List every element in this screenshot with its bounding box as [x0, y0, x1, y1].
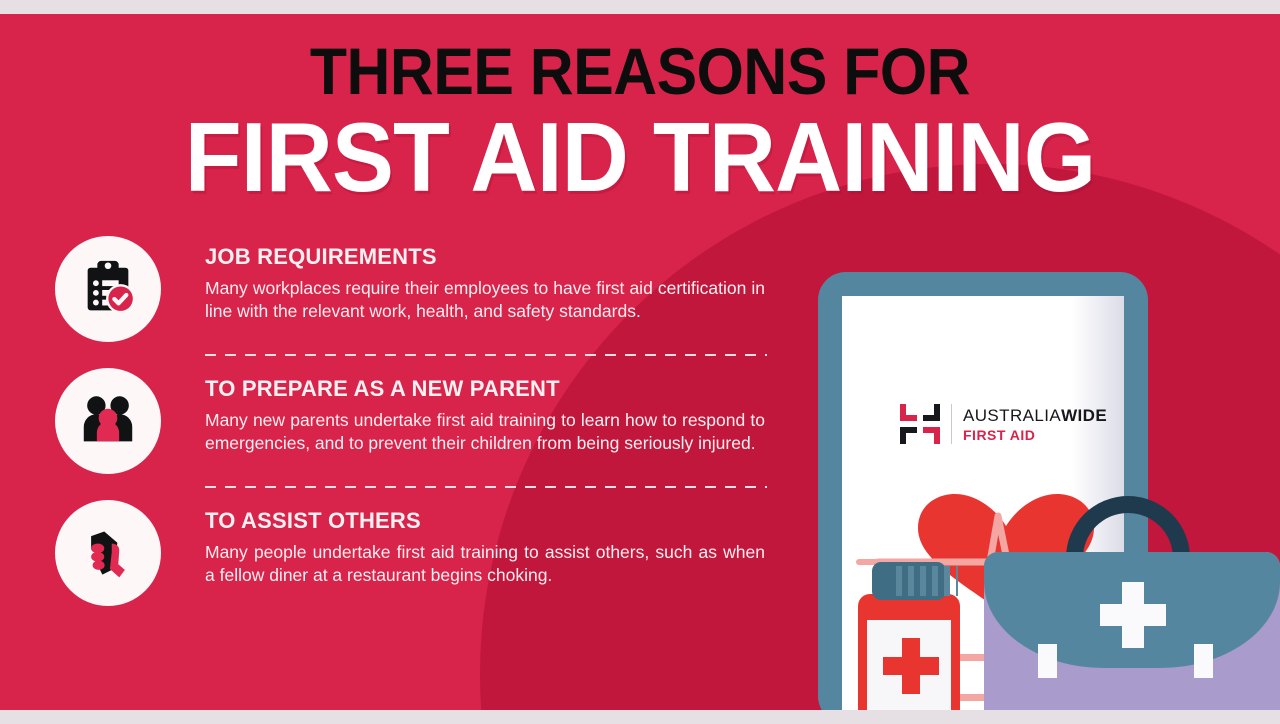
- bottle-cross-icon-bar: [883, 657, 939, 675]
- reason-body: TO PREPARE AS A NEW PARENT Many new pare…: [205, 368, 775, 455]
- reason-text: Many new parents undertake first aid tra…: [205, 409, 765, 455]
- bag-clasp-left: [1038, 644, 1057, 678]
- australia-wide-cross-mark-icon: [900, 404, 940, 444]
- reason-text: Many people undertake first aid training…: [205, 541, 765, 587]
- reason-heading: TO PREPARE AS A NEW PARENT: [205, 376, 775, 402]
- reason-heading: TO ASSIST OTHERS: [205, 508, 775, 534]
- australia-wide-first-aid-logo: AUSTRALIAWIDE FIRST AID: [900, 404, 1107, 444]
- red-stage: THREE REASONS FOR FIRST AID TRAINING: [0, 14, 1280, 710]
- bottle-cap-ribs: [896, 566, 958, 596]
- infographic-canvas: THREE REASONS FOR FIRST AID TRAINING: [0, 0, 1280, 724]
- section-divider: [205, 354, 767, 356]
- logo-name-light: AUSTRALIA: [963, 406, 1061, 425]
- first-aid-illustration: AUSTRALIAWIDE FIRST AID: [806, 210, 1280, 710]
- bag-cross-icon-bar: [1100, 604, 1166, 626]
- reason-item-new-parent: TO PREPARE AS A NEW PARENT Many new pare…: [55, 368, 775, 474]
- reason-item-assist-others: TO ASSIST OTHERS Many people undertake f…: [55, 500, 775, 606]
- bag-clasp-right: [1194, 644, 1213, 678]
- title-line-2: FIRST AID TRAINING: [32, 108, 1248, 206]
- logo-name-bold: WIDE: [1061, 406, 1107, 425]
- section-divider: [205, 486, 767, 488]
- reasons-list: JOB REQUIREMENTS Many workplaces require…: [55, 236, 775, 606]
- choking-assist-icon: [55, 500, 161, 606]
- page-title: THREE REASONS FOR FIRST AID TRAINING: [0, 38, 1280, 206]
- reason-text: Many workplaces require their employees …: [205, 277, 765, 323]
- reason-body: TO ASSIST OTHERS Many people undertake f…: [205, 500, 775, 587]
- reason-body: JOB REQUIREMENTS Many workplaces require…: [205, 236, 775, 323]
- medicine-bottle-illustration: [854, 562, 962, 710]
- family-parents-child-icon: [55, 368, 161, 474]
- title-line-1: THREE REASONS FOR: [51, 38, 1229, 104]
- clipboard-check-icon: [55, 236, 161, 342]
- logo-divider: [951, 404, 952, 444]
- reason-heading: JOB REQUIREMENTS: [205, 244, 775, 270]
- logo-tagline: FIRST AID: [963, 428, 1107, 442]
- reason-item-job-requirements: JOB REQUIREMENTS Many workplaces require…: [55, 236, 775, 342]
- first-aid-bag-illustration: [984, 496, 1280, 710]
- bottle-cap: [872, 562, 946, 600]
